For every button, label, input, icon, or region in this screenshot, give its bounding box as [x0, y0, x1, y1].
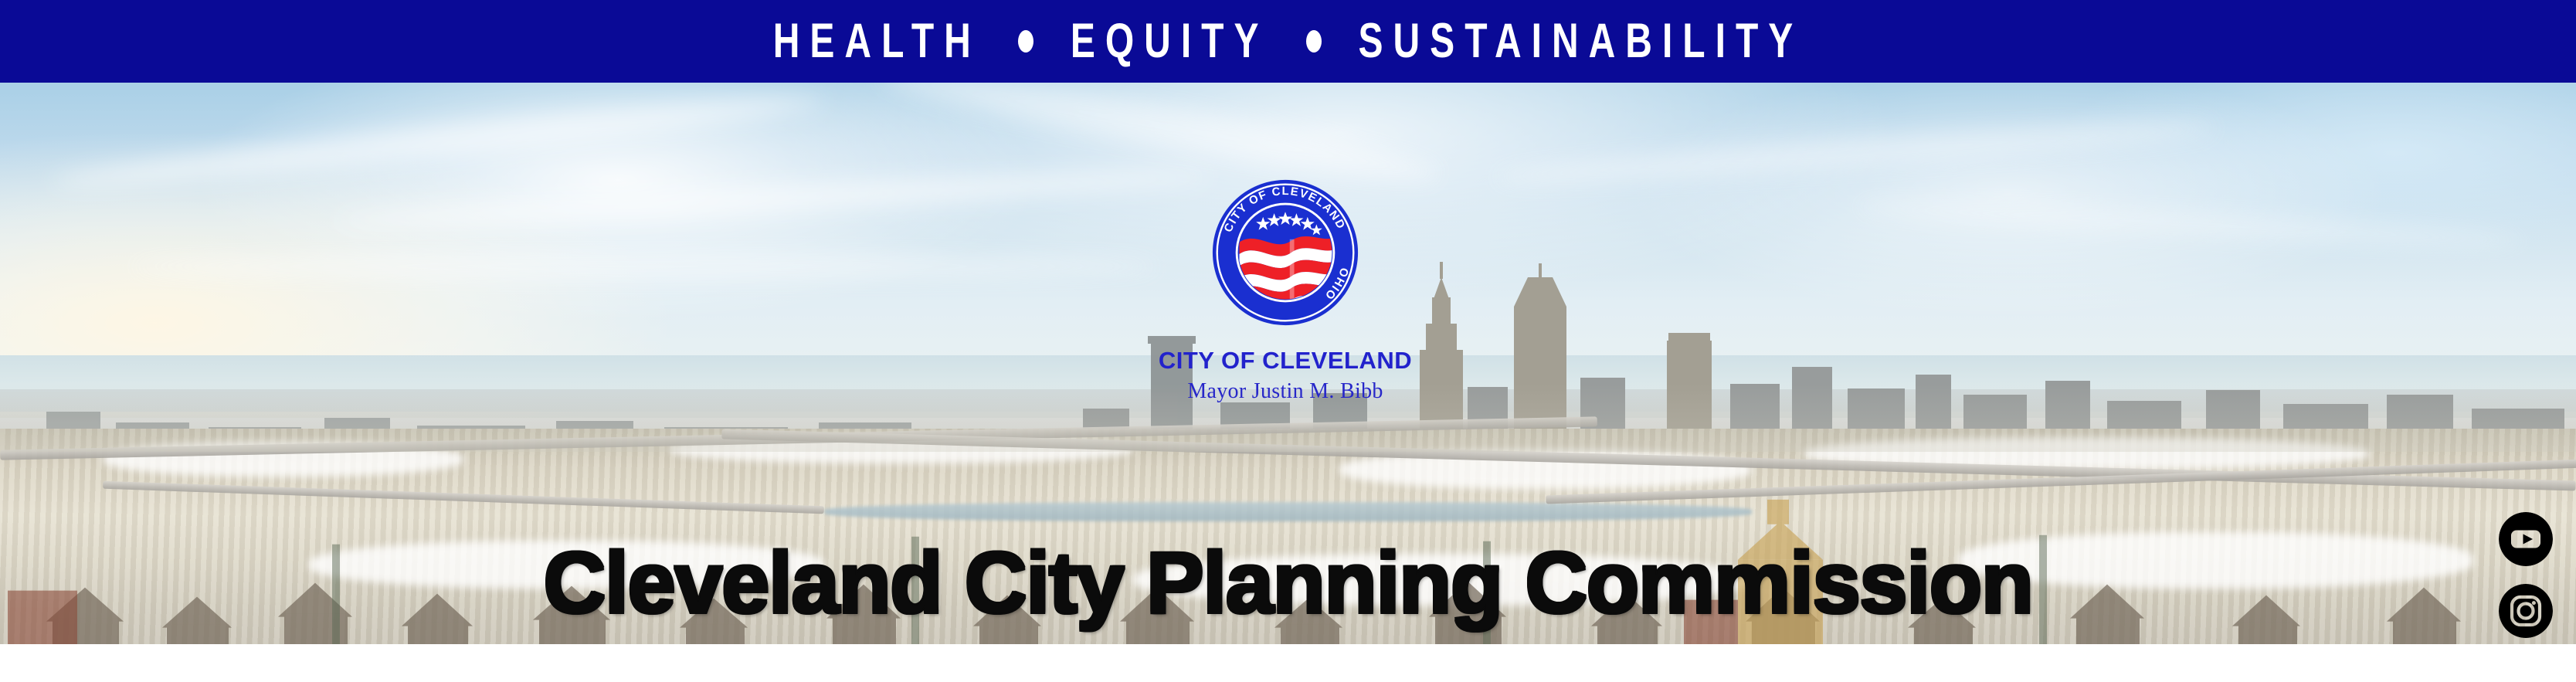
mayor-name-label: Mayor Justin M. Bibb — [1015, 381, 1556, 402]
youtube-icon[interactable] — [2499, 512, 2553, 566]
tagline-banner-inner: HEALTH EQUITY SUSTAINABILITY — [773, 23, 1804, 60]
tagline-separator-dot-2 — [1306, 30, 1322, 53]
hero-photo-container: CITY OF CLEVELAND OHIO CITY OF CLEVELAND… — [0, 78, 2576, 644]
tagline-word-sustainability: SUSTAINABILITY — [1359, 17, 1804, 66]
page-root: HEALTH EQUITY SUSTAINABILITY — [0, 0, 2576, 682]
tagline-word-health: HEALTH — [773, 17, 981, 66]
org-name-label: CITY OF CLEVELAND — [1015, 348, 1556, 372]
tagline-word-equity: EQUITY — [1071, 17, 1269, 66]
instagram-label: Instagram — [2499, 512, 2500, 513]
tagline-banner: HEALTH EQUITY SUSTAINABILITY — [0, 0, 2576, 83]
instagram-icon[interactable] — [2499, 584, 2553, 638]
page-title: Cleveland City Planning Commission — [543, 540, 2032, 626]
city-of-cleveland-seal-icon: CITY OF CLEVELAND OHIO — [1211, 178, 1359, 327]
social-media-rail[interactable]: YouTube Instagram Facebook — [2499, 512, 2553, 644]
tagline-separator-dot-1 — [1018, 30, 1033, 53]
facebook-label: Facebook — [2499, 512, 2500, 513]
youtube-label: YouTube — [2499, 512, 2500, 513]
city-logo-block: CITY OF CLEVELAND OHIO CITY OF CLEVELAND… — [1015, 178, 1556, 402]
